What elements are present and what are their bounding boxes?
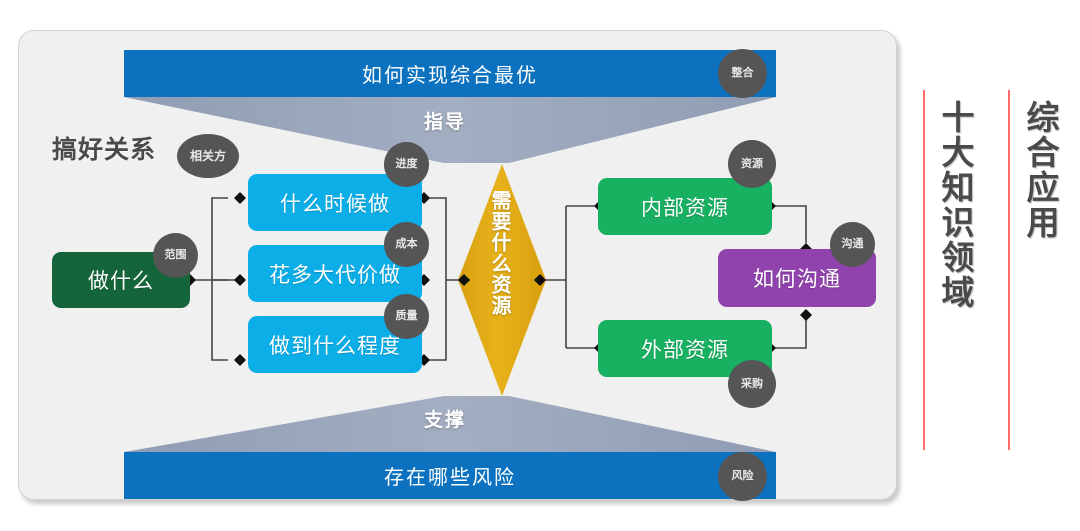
bottom-banner-label: 存在哪些风险 (384, 461, 516, 490)
badge-risk-label: 风险 (732, 471, 754, 482)
badge-schedule-label: 进度 (396, 159, 418, 170)
badge-scope-label: 范围 (165, 250, 187, 261)
node-communication-label: 如何沟通 (753, 263, 841, 293)
badge-integration: 整合 (718, 49, 767, 98)
top-banner: 如何实现综合最优 (124, 50, 776, 97)
top-banner-label: 如何实现综合最优 (362, 59, 538, 88)
vrule-inner (923, 90, 925, 450)
bottom-banner: 存在哪些风险 (124, 452, 776, 499)
badge-quality: 质量 (384, 294, 429, 339)
badge-stakeholder: 相关方 (177, 134, 239, 178)
node-quality-label: 做到什么程度 (269, 330, 401, 360)
side-title-outer: 综合应用 (1021, 100, 1058, 440)
badge-procurement: 采购 (728, 360, 776, 408)
page-headline-label: 搞好关系 (52, 136, 156, 164)
center-diamond-label: 需要什么资源 (489, 190, 509, 316)
badge-communication-label: 沟通 (842, 239, 864, 250)
badge-resource: 资源 (728, 140, 776, 188)
node-schedule-label: 什么时候做 (280, 188, 390, 218)
badge-communication: 沟通 (830, 222, 875, 267)
badge-stakeholder-label: 相关方 (190, 150, 226, 162)
node-external-resource-label: 外部资源 (641, 334, 729, 364)
node-scope-label: 做什么 (88, 265, 154, 295)
bottom-chevron-label: 支撑 (424, 405, 466, 432)
node-internal-resource-label: 内部资源 (641, 192, 729, 222)
page-headline: 搞好关系 (52, 130, 156, 166)
diagram-canvas: 如何实现综合最优 整合 指导 搞好关系 相关方 做什么 范围 什么时候做 进度 … (0, 0, 1080, 531)
badge-quality-label: 质量 (396, 311, 418, 322)
badge-schedule: 进度 (384, 142, 429, 187)
badge-cost-label: 成本 (396, 239, 418, 250)
vrule-outer (1008, 90, 1010, 450)
badge-integration-label: 整合 (732, 68, 754, 79)
badge-cost: 成本 (384, 222, 429, 267)
badge-resource-label: 资源 (741, 159, 763, 170)
badge-procurement-label: 采购 (741, 379, 763, 390)
badge-risk: 风险 (718, 452, 767, 501)
side-title-inner: 十大知识领域 (936, 100, 973, 440)
badge-scope: 范围 (153, 233, 198, 278)
top-chevron-label: 指导 (424, 107, 466, 134)
node-cost-label: 花多大代价做 (269, 259, 401, 289)
